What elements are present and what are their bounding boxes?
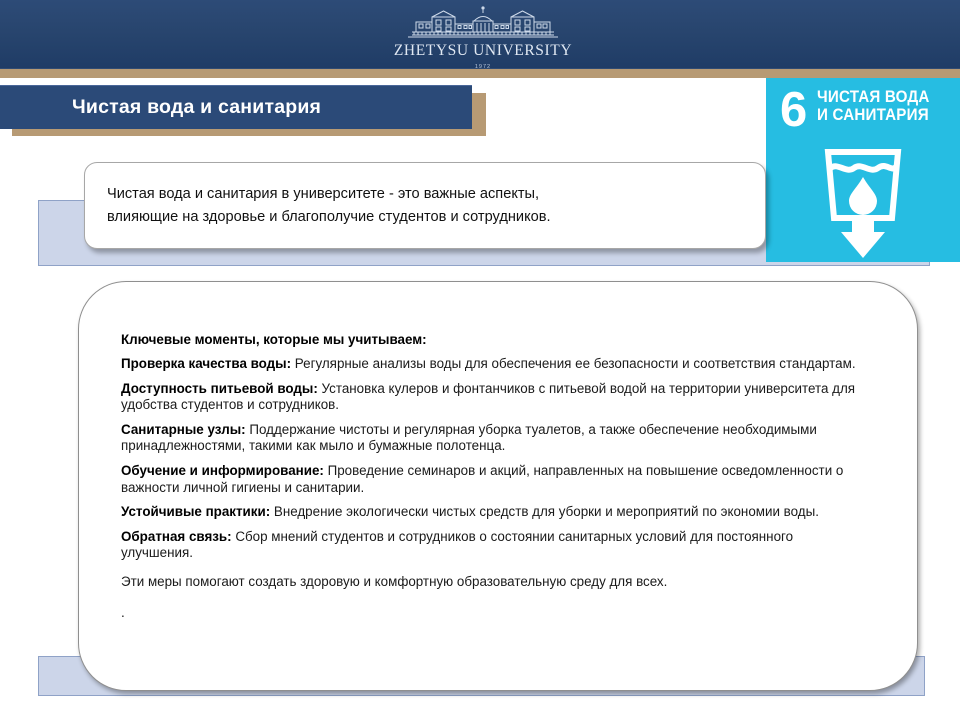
header-accent-rule — [0, 69, 960, 78]
key-points-body: Ключевые моменты, которые мы учитываем: … — [121, 332, 861, 621]
list-item-label: Доступность питьевой воды: — [121, 381, 318, 396]
sdg-goal-6-badge: 6 ЧИСТАЯ ВОДА И САНИТАРИЯ — [766, 78, 960, 262]
closing-note: Эти меры помогают создать здоровую и ком… — [121, 574, 861, 591]
list-item: Санитарные узлы: Поддержание чистоты и р… — [121, 422, 861, 455]
list-item-text: Регулярные анализы воды для обеспечения … — [291, 356, 855, 371]
water-glass-drop-arrow-icon — [766, 144, 960, 262]
list-item: Обратная связь: Сбор мнений студентов и … — [121, 529, 861, 562]
intro-callout-text: Чистая вода и санитария в университете -… — [107, 183, 757, 229]
sdg-goal-title: ЧИСТАЯ ВОДА И САНИТАРИЯ — [817, 88, 939, 124]
list-item-label: Санитарные узлы: — [121, 422, 246, 437]
list-item-label: Устойчивые практики: — [121, 504, 270, 519]
sdg-badge-header: 6 ЧИСТАЯ ВОДА И САНИТАРИЯ — [766, 86, 960, 148]
list-item-label: Обучение и информирование: — [121, 463, 324, 478]
list-item: Проверка качества воды: Регулярные анали… — [121, 356, 861, 373]
logo-year: 1972 — [475, 64, 491, 70]
list-item-label: Проверка качества воды: — [121, 356, 291, 371]
logo-wordmark: ZHETYSU UNIVERSITY — [394, 43, 572, 59]
slide-canvas: ZHETYSU UNIVERSITY 1972 Чистая вода и са… — [0, 0, 960, 720]
sdg-goal-number: 6 — [780, 86, 806, 135]
list-item-text: Внедрение экологически чистых средств дл… — [270, 504, 819, 519]
list-item-label: Обратная связь: — [121, 529, 232, 544]
key-points-card: Ключевые моменты, которые мы учитываем: … — [78, 281, 918, 691]
key-points-heading: Ключевые моменты, которые мы учитываем: — [121, 332, 861, 348]
university-logo: ZHETYSU UNIVERSITY 1972 — [398, 4, 568, 68]
list-item: Обучение и информирование: Проведение се… — [121, 463, 861, 496]
page-title: Чистая вода и санитария — [0, 96, 321, 119]
trailing-dot: . — [121, 605, 861, 622]
list-item: Устойчивые практики: Внедрение экологиче… — [121, 504, 861, 521]
sdg-goal-title-line1: ЧИСТАЯ ВОДА — [817, 88, 930, 106]
intro-line-2: влияющие на здоровье и благополучие студ… — [107, 206, 757, 229]
sdg-goal-title-line2: И САНИТАРИЯ — [817, 106, 930, 124]
intro-callout: Чистая вода и санитария в университете -… — [84, 162, 766, 249]
university-building-icon — [402, 4, 564, 42]
intro-line-1: Чистая вода и санитария в университете -… — [107, 183, 757, 206]
slide-title-bar: Чистая вода и санитария — [0, 85, 472, 129]
list-item: Доступность питьевой воды: Установка кул… — [121, 381, 861, 414]
